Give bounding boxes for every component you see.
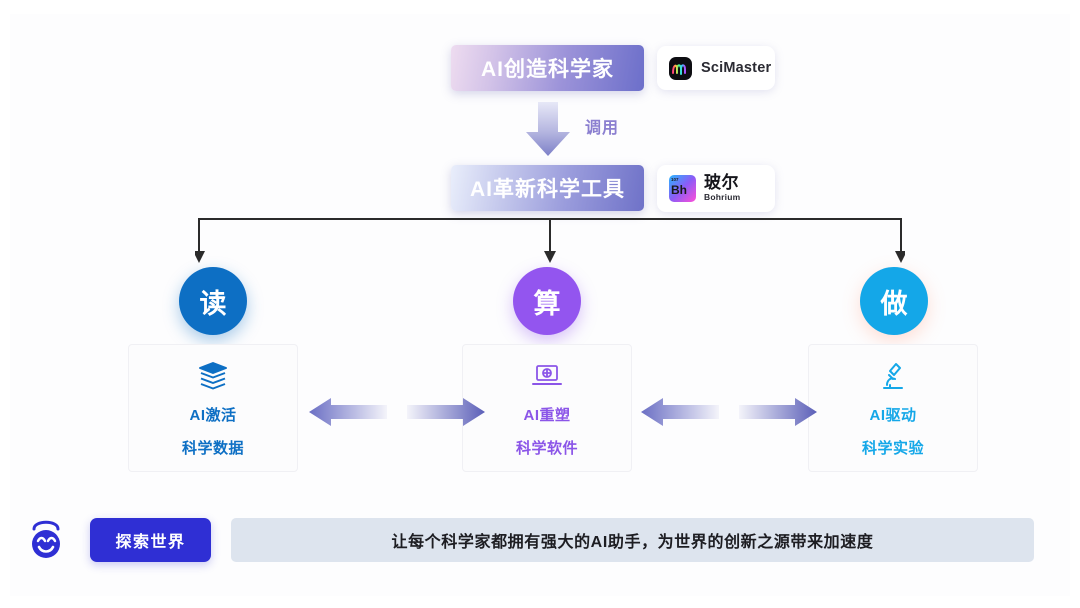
bohrium-element-tile-icon: 107 Bh	[669, 175, 696, 202]
pillar-card-software[interactable]: AI重塑 科学软件	[462, 344, 632, 472]
call-label: 调用	[585, 114, 619, 138]
bohrium-name-en: Bohrium	[704, 192, 740, 203]
pillar-circle-calculate[interactable]: 算	[513, 267, 581, 335]
pillar-circle-do-label: 做	[881, 282, 908, 321]
pillar-card-data-line2: 科学数据	[182, 437, 244, 458]
bidirectional-arrow-data-software	[309, 393, 485, 431]
stacked-books-icon	[197, 359, 229, 393]
pillar-card-experiment-line2: 科学实验	[862, 437, 924, 458]
pillar-card-data[interactable]: AI激活 科学数据	[128, 344, 298, 472]
bracket-connector	[195, 216, 905, 266]
bohrium-name-block: 玻尔 Bohrium	[704, 174, 740, 203]
ai-creates-scientist-bar: AI创造科学家	[451, 45, 644, 91]
pillar-circle-read[interactable]: 读	[179, 267, 247, 335]
slide-canvas: AI创造科学家 SciMaster	[0, 0, 1080, 608]
explore-world-button[interactable]: 探索世界	[90, 518, 211, 562]
call-down-arrow-icon	[524, 102, 572, 156]
slide-top-edge	[0, 0, 1080, 14]
pillar-circle-do[interactable]: 做	[860, 267, 928, 335]
tagline-text: 让每个科学家都拥有强大的AI助手，为世界的创新之源带来加速度	[391, 528, 873, 552]
pillar-circle-calculate-label: 算	[534, 282, 561, 321]
scimaster-brand-chip[interactable]: SciMaster	[657, 46, 775, 90]
pillar-card-data-line1: AI激活	[189, 404, 236, 425]
slide-right-edge	[1070, 0, 1080, 608]
pillar-card-experiment[interactable]: AI驱动 科学实验	[808, 344, 978, 472]
ai-renews-tools-label: AI革新科学工具	[470, 173, 625, 203]
slide-left-edge	[0, 0, 10, 608]
pillar-card-software-line1: AI重塑	[523, 404, 570, 425]
bohrium-name-cn: 玻尔	[704, 174, 740, 192]
smiley-halo-icon	[23, 516, 69, 562]
scimaster-label: SciMaster	[701, 60, 771, 76]
slide-bottom-edge	[0, 596, 1080, 608]
pillar-card-experiment-line1: AI驱动	[869, 404, 916, 425]
pillar-card-software-line2: 科学软件	[516, 437, 578, 458]
tagline-banner: 让每个科学家都拥有强大的AI助手，为世界的创新之源带来加速度	[231, 518, 1034, 562]
ai-renews-tools-bar: AI革新科学工具	[451, 165, 644, 211]
pillar-circle-read-label: 读	[200, 282, 227, 321]
bohrium-brand-chip[interactable]: 107 Bh 玻尔 Bohrium	[657, 165, 775, 212]
microscope-icon	[878, 359, 908, 393]
bidirectional-arrow-software-experiment	[641, 393, 817, 431]
ai-creates-scientist-label: AI创造科学家	[481, 53, 614, 83]
scimaster-wave-icon	[669, 57, 692, 80]
explore-world-label: 探索世界	[115, 528, 185, 552]
laptop-icon	[531, 359, 563, 393]
